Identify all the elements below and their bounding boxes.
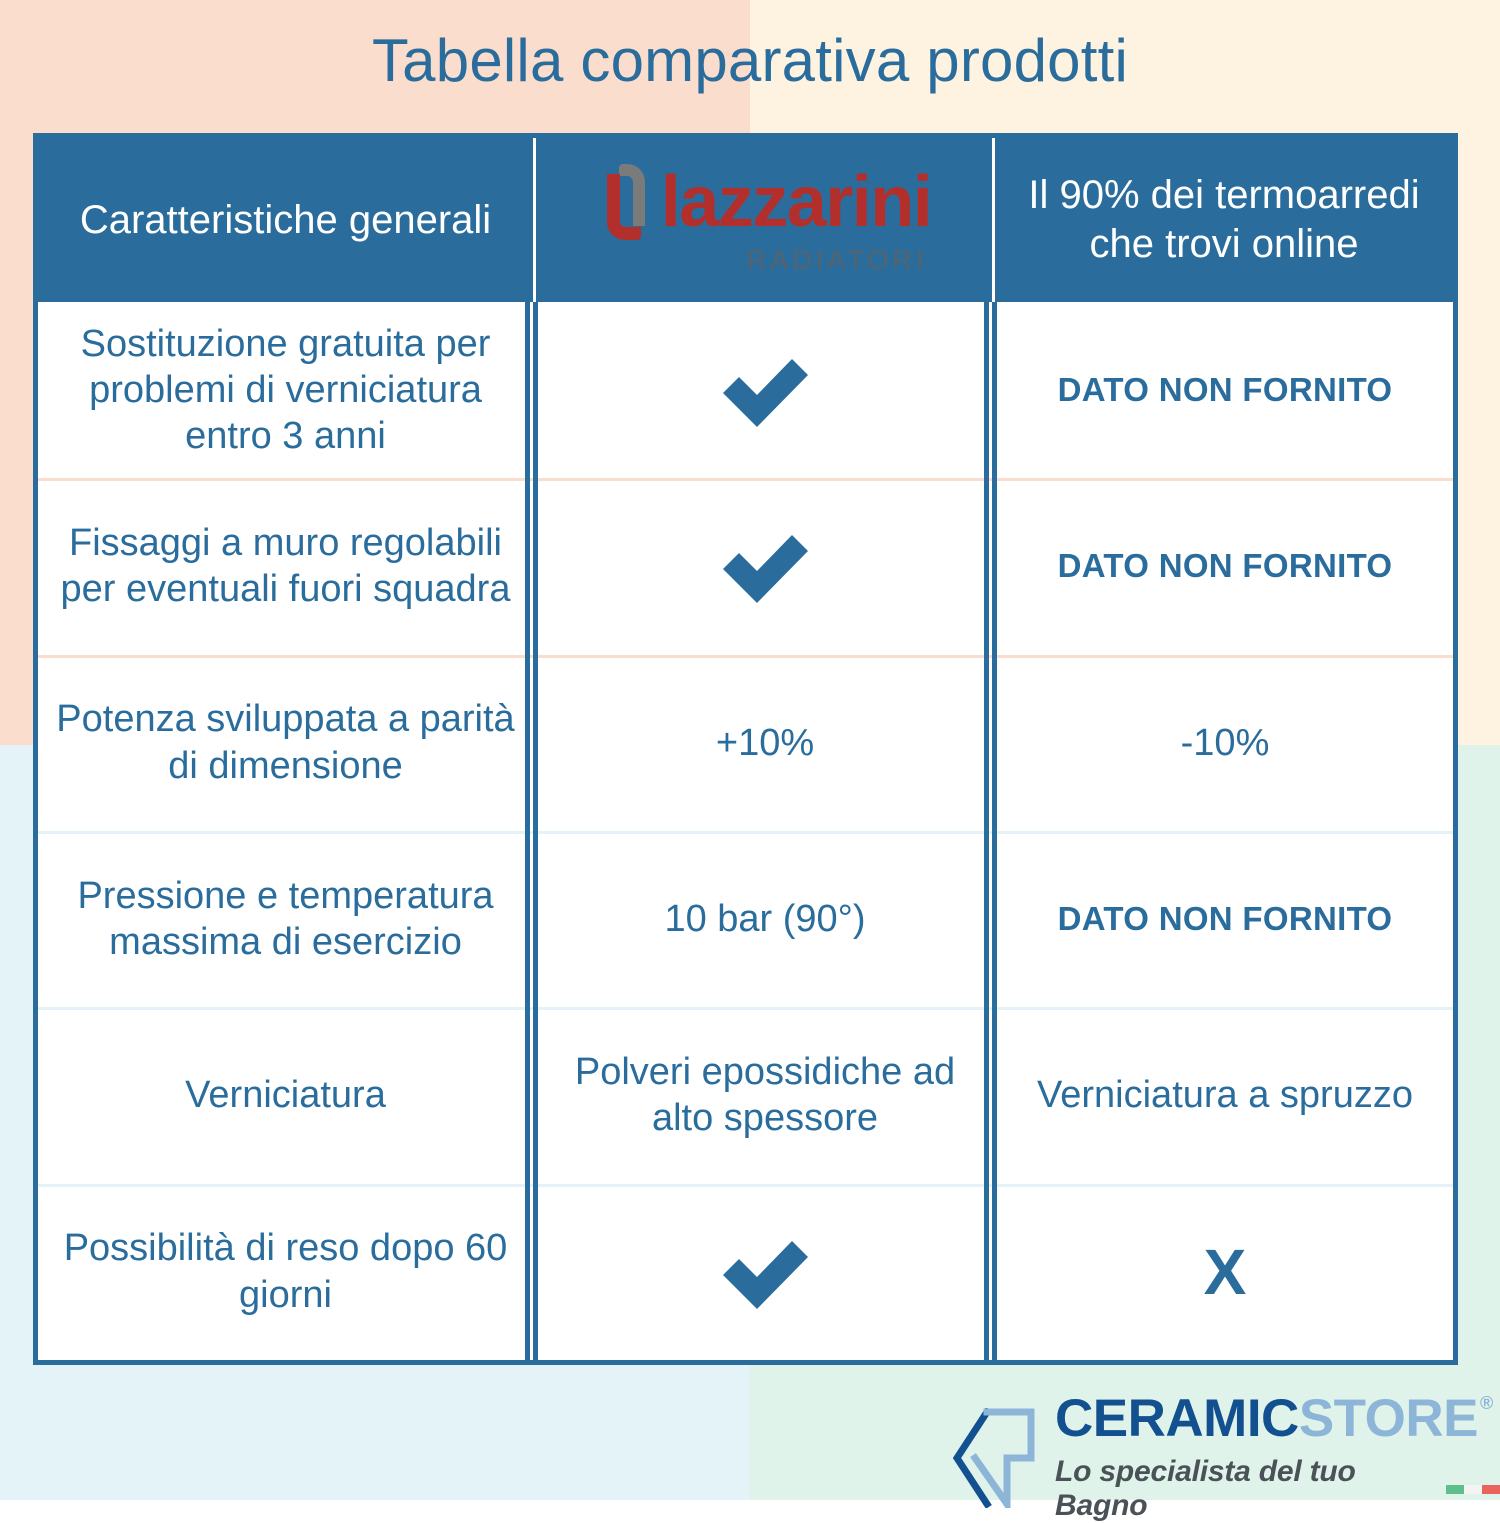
cell-competitor-value: DATO NON FORNITO	[992, 831, 1453, 1007]
table-row: Fissaggi a muro regolabili per eventuali…	[38, 478, 1453, 654]
cell-feature: Sostituzione gratuita per problemi di ve…	[38, 302, 533, 478]
cell-lazzarini-value	[533, 302, 992, 478]
check-icon	[717, 1235, 813, 1309]
lazzarini-subtitle: RADIATORI	[747, 244, 928, 277]
header-cell-competitors: Il 90% dei termoarredi che trovi online	[992, 138, 1453, 302]
comparison-table: Caratteristiche generali lazzarini RADIA…	[33, 133, 1458, 1365]
cross-icon: X	[1204, 1240, 1247, 1304]
cell-feature: Pressione e temperatura massima di eserc…	[38, 831, 533, 1007]
header-cell-features: Caratteristiche generali	[38, 138, 533, 302]
table-row: Potenza sviluppata a parità di dimension…	[38, 655, 1453, 831]
cell-lazzarini-value: +10%	[533, 655, 992, 831]
header-cell-lazzarini: lazzarini RADIATORI	[533, 138, 992, 302]
registered-trademark-icon: ®	[1480, 1394, 1493, 1412]
ceramicstore-text: CERAMICSTORE® Lo specialista del tuo Bag…	[1055, 1392, 1500, 1523]
brand-part-ceramic: CERAMIC	[1055, 1392, 1299, 1445]
cell-lazzarini-value: 10 bar (90°)	[533, 831, 992, 1007]
lazzarini-logo: lazzarini RADIATORI	[605, 164, 932, 277]
cell-feature: Verniciatura	[38, 1007, 533, 1183]
lazzarini-wordmark: lazzarini	[661, 170, 932, 235]
lazzarini-logo-top: lazzarini	[605, 164, 932, 242]
cell-competitor-value: X	[992, 1184, 1453, 1360]
cell-competitor-value: Verniciatura a spruzzo	[992, 1007, 1453, 1183]
check-icon	[717, 529, 813, 603]
lazzarini-hook-icon	[605, 164, 649, 242]
table-row: Verniciatura Polveri epossidiche ad alto…	[38, 1007, 1453, 1183]
cell-feature: Fissaggi a muro regolabili per eventuali…	[38, 478, 533, 654]
cell-competitor-value: DATO NON FORNITO	[992, 302, 1453, 478]
table-row: Possibilità di reso dopo 60 giorni X	[38, 1184, 1453, 1360]
cell-feature: Potenza sviluppata a parità di dimension…	[38, 655, 533, 831]
table-header-row: Caratteristiche generali lazzarini RADIA…	[38, 138, 1453, 302]
cell-lazzarini-value: Polveri epossidiche ad alto spessore	[533, 1007, 992, 1183]
check-icon	[717, 353, 813, 427]
ceramicstore-logo: CERAMICSTORE® Lo specialista del tuo Bag…	[945, 1392, 1500, 1523]
italian-flag-icon	[1446, 1485, 1500, 1494]
brand-part-store: STORE	[1299, 1392, 1478, 1445]
ceramicstore-wordmark: CERAMICSTORE®	[1055, 1392, 1500, 1445]
table-body: Sostituzione gratuita per problemi di ve…	[38, 302, 1453, 1360]
page-title: Tabella comparativa prodotti	[0, 28, 1500, 94]
table-row: Sostituzione gratuita per problemi di ve…	[38, 302, 1453, 478]
cell-competitor-value: -10%	[992, 655, 1453, 831]
ceramicstore-tagline-row: Lo specialista del tuo Bagno	[1055, 1455, 1500, 1523]
ceramicstore-tagline: Lo specialista del tuo Bagno	[1055, 1455, 1432, 1523]
ceramicstore-mark-icon	[945, 1408, 1041, 1508]
cell-feature: Possibilità di reso dopo 60 giorni	[38, 1184, 533, 1360]
cell-competitor-value: DATO NON FORNITO	[992, 478, 1453, 654]
cell-lazzarini-value	[533, 478, 992, 654]
cell-lazzarini-value	[533, 1184, 992, 1360]
table-row: Pressione e temperatura massima di eserc…	[38, 831, 1453, 1007]
